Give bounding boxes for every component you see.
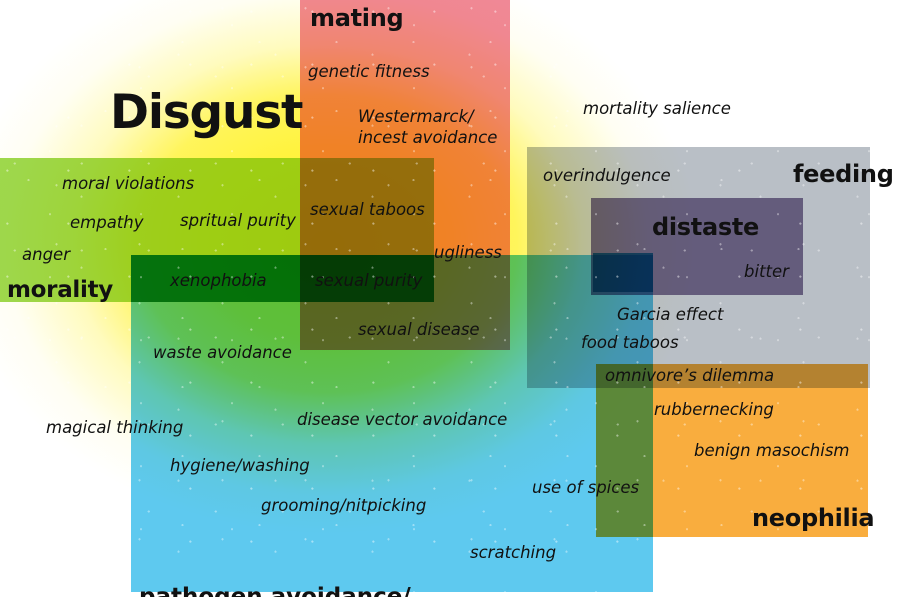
term-label: xenophobia — [170, 271, 267, 290]
term-label: anger — [22, 245, 70, 264]
term-label: moral violations — [62, 174, 194, 193]
domain-label-distaste: distaste — [652, 214, 759, 242]
term-label: overindulgence — [543, 166, 671, 185]
term-label: sexual disease — [358, 320, 480, 339]
term-label: grooming/nitpicking — [261, 496, 426, 515]
term-label: empathy — [70, 213, 144, 232]
term-label: sexual taboos — [310, 200, 425, 219]
term-label: Garcia effect — [617, 305, 723, 324]
domain-label-mating: mating — [310, 5, 403, 33]
term-label: bitter — [744, 262, 789, 281]
term-label: incest avoidance — [358, 128, 497, 147]
domain-label-feeding: feeding — [793, 161, 894, 189]
term-label: scratching — [470, 543, 556, 562]
term-label: disease vector avoidance — [297, 410, 507, 429]
term-label: genetic fitness — [308, 62, 430, 81]
term-label: benign masochism — [694, 441, 850, 460]
term-label: rubbernecking — [654, 400, 774, 419]
term-label: sexual purity — [315, 271, 422, 290]
term-label: food taboos — [581, 333, 679, 352]
term-label: hygiene/washing — [170, 456, 310, 475]
page-title: Disgust — [110, 86, 302, 141]
diagram-canvas: Disgust mating feeding morality distaste… — [0, 0, 898, 597]
term-label: spritual purity — [180, 211, 296, 230]
term-label: mortality salience — [583, 99, 731, 118]
term-label: magical thinking — [46, 418, 183, 437]
label-layer: Disgust mating feeding morality distaste… — [0, 0, 898, 597]
term-label: use of spices — [532, 478, 639, 497]
pathogen-label-line-1: pathogen avoidance/ — [139, 584, 490, 597]
term-label: waste avoidance — [153, 343, 292, 362]
term-label: Westermarck/ — [358, 107, 474, 126]
term-label: ugliness — [434, 243, 502, 262]
domain-label-pathogen-avoidance: pathogen avoidance/ behavioral immune sy… — [139, 531, 490, 597]
domain-label-morality: morality — [7, 277, 113, 304]
term-label: omnivore’s dilemma — [605, 366, 774, 385]
domain-label-neophilia: neophilia — [752, 505, 874, 533]
